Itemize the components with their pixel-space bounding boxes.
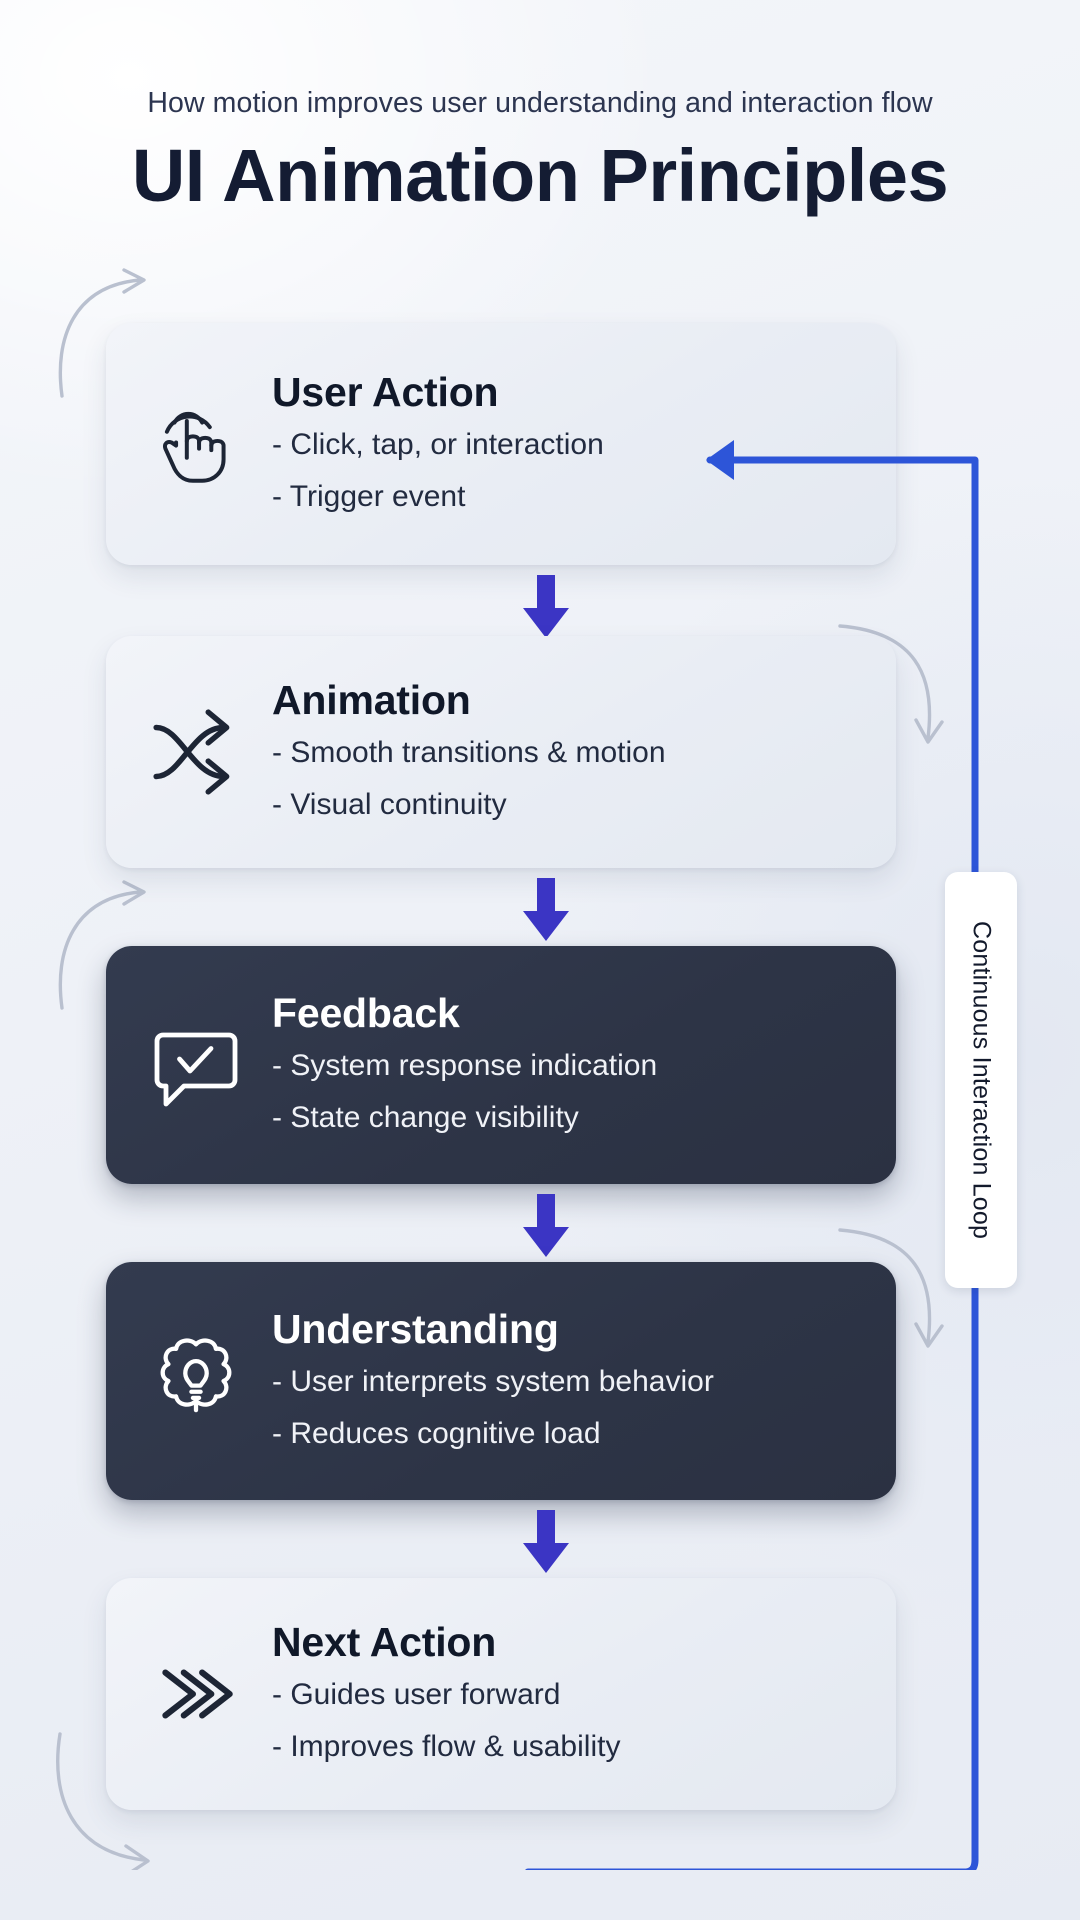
step-bullet: - State change visibility [272,1097,866,1140]
step-card-understanding[interactable]: Understanding - User interprets system b… [106,1262,896,1500]
step-bullet: - Smooth transitions & motion [272,732,866,775]
flow-arrow-down-3 [519,1194,573,1258]
header: How motion improves user understanding a… [0,86,1080,215]
step-card-feedback[interactable]: Feedback - System response indication - … [106,946,896,1184]
chevrons-right-icon [142,1640,250,1748]
step-bullet: - Guides user forward [272,1674,866,1717]
page-subtitle: How motion improves user understanding a… [0,86,1080,120]
step-title: User Action [272,370,866,415]
flow-arrow-down-4 [519,1510,573,1574]
continuous-loop-label-text: Continuous Interaction Loop [967,921,996,1239]
step-card-user-action[interactable]: User Action - Click, tap, or interaction… [106,323,896,565]
step-card-body: User Action - Click, tap, or interaction… [272,370,866,518]
step-bullet: - Trigger event [272,476,866,519]
brain-lightbulb-icon [142,1327,250,1435]
step-title: Feedback [272,991,866,1036]
flow-arrow-down-1 [519,575,573,639]
step-title: Understanding [272,1307,866,1352]
step-title: Next Action [272,1620,866,1665]
step-bullet: - Visual continuity [272,784,866,827]
step-bullet: - Click, tap, or interaction [272,424,866,467]
step-card-body: Feedback - System response indication - … [272,991,866,1139]
step-title: Animation [272,678,866,723]
step-bullet: - Reduces cognitive load [272,1413,866,1456]
flow-arrow-down-2 [519,878,573,942]
step-card-body: Next Action - Guides user forward - Impr… [272,1620,866,1768]
step-card-animation[interactable]: Animation - Smooth transitions & motion … [106,636,896,868]
page-title: UI Animation Principles [0,137,1080,215]
step-card-body: Animation - Smooth transitions & motion … [272,678,866,826]
step-card-next-action[interactable]: Next Action - Guides user forward - Impr… [106,1578,896,1810]
infographic-poster: How motion improves user understanding a… [0,0,1080,1920]
step-card-body: Understanding - User interprets system b… [272,1307,866,1455]
step-bullet: - User interprets system behavior [272,1361,866,1404]
speech-bubble-check-icon [142,1011,250,1119]
shuffle-arrows-icon [142,698,250,806]
tap-gesture-icon [142,390,250,498]
step-bullet: - Improves flow & usability [272,1726,866,1769]
continuous-loop-label: Continuous Interaction Loop [945,872,1017,1288]
step-bullet: - System response indication [272,1045,866,1088]
